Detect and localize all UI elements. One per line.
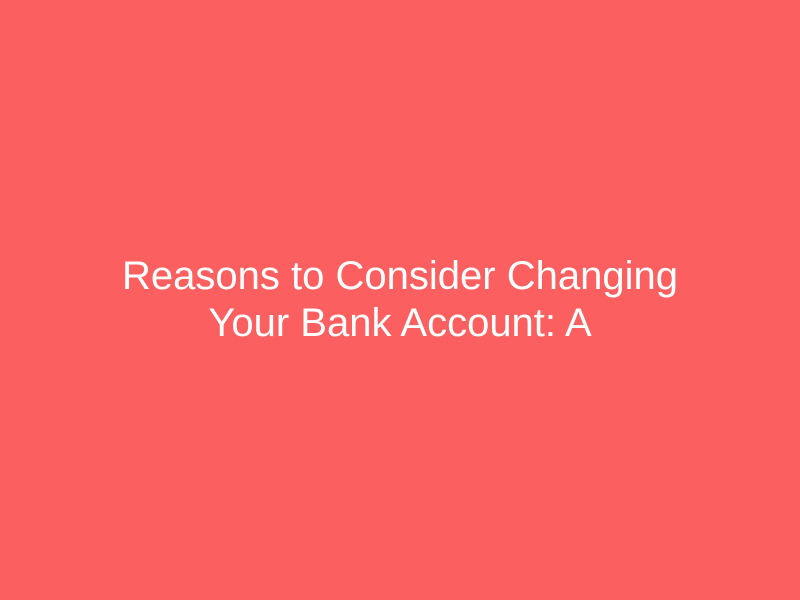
- title-card: Reasons to Consider Changing Your Bank A…: [0, 0, 800, 600]
- title-block: Reasons to Consider Changing Your Bank A…: [80, 253, 720, 347]
- page-title: Reasons to Consider Changing Your Bank A…: [88, 253, 712, 347]
